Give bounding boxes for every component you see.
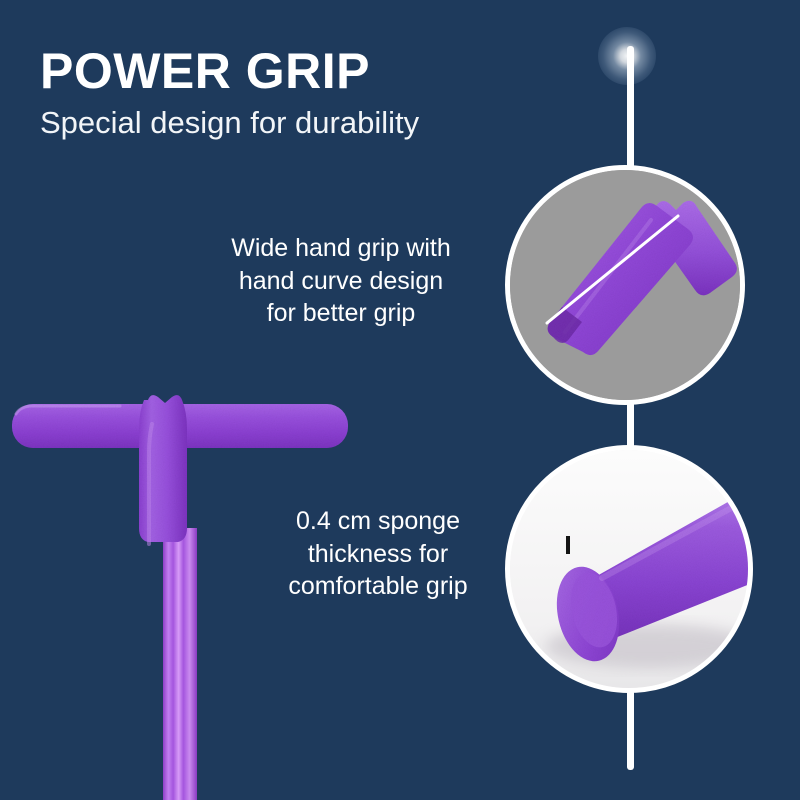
product-vertical-sleeve bbox=[139, 395, 187, 544]
product-photo bbox=[0, 380, 360, 800]
infographic-canvas: POWER GRIP Special design for durability… bbox=[0, 0, 800, 800]
detail-image-thickness bbox=[510, 450, 753, 693]
callout-wide-hand-grip: Wide hand grip with hand curve design fo… bbox=[196, 232, 486, 330]
detail-circle-thickness: I 0.4 cm bbox=[505, 445, 753, 693]
headline-block: POWER GRIP Special design for durability bbox=[40, 46, 500, 140]
detail-circle-grip: 12 CM bbox=[505, 165, 745, 405]
page-title: POWER GRIP bbox=[40, 46, 500, 96]
detail-image-grip bbox=[510, 170, 745, 405]
product-pole bbox=[163, 528, 197, 800]
connector-line-bottom bbox=[627, 690, 634, 770]
page-subtitle: Special design for durability bbox=[40, 107, 500, 140]
